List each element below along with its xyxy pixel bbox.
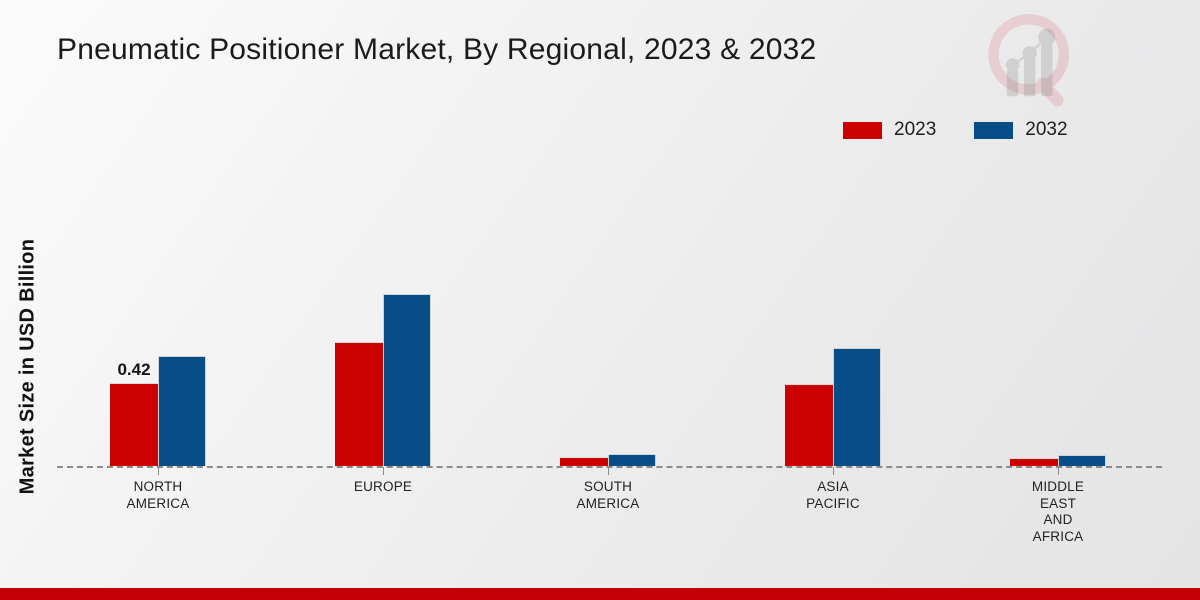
x-axis-label-south-america: SOUTHAMERICA <box>538 479 678 512</box>
bar-group <box>785 348 881 466</box>
x-axis-tick <box>608 467 609 475</box>
bar-2032-asia-pacific[interactable] <box>833 348 881 466</box>
bar-value-label: 0.42 <box>117 360 150 380</box>
chart-canvas: Pneumatic Positioner Market, By Regional… <box>0 0 1200 600</box>
plot-area: 0.42 NORTHAMERICAEUROPESOUTHAMERICAASIAP… <box>0 0 1200 600</box>
x-axis-tick <box>158 467 159 475</box>
x-axis-tick <box>833 467 834 475</box>
x-axis-baseline <box>57 466 1162 468</box>
bar-2023-europe[interactable] <box>335 342 383 466</box>
x-axis-tick <box>383 467 384 475</box>
bar-group <box>560 454 656 466</box>
bar-group <box>335 294 431 466</box>
x-axis-label-north-america: NORTHAMERICA <box>88 479 228 512</box>
bar-group: 0.42 <box>110 356 206 466</box>
x-axis-label-europe: EUROPE <box>313 479 453 496</box>
bar-group <box>1010 455 1106 466</box>
x-axis-label-middle-east-and-africa: MIDDLEEASTANDAFRICA <box>988 479 1128 545</box>
bar-2032-europe[interactable] <box>383 294 431 466</box>
bar-2023-north-america[interactable]: 0.42 <box>110 383 158 466</box>
bar-2023-asia-pacific[interactable] <box>785 384 833 466</box>
bar-2023-middle-east-and-africa[interactable] <box>1010 458 1058 466</box>
bar-2023-south-america[interactable] <box>560 457 608 466</box>
x-axis-label-asia-pacific: ASIAPACIFIC <box>763 479 903 512</box>
bar-2032-middle-east-and-africa[interactable] <box>1058 455 1106 466</box>
footer-accent-bar <box>0 588 1200 600</box>
bar-2032-north-america[interactable] <box>158 356 206 466</box>
bar-2032-south-america[interactable] <box>608 454 656 466</box>
x-axis-tick <box>1058 467 1059 475</box>
